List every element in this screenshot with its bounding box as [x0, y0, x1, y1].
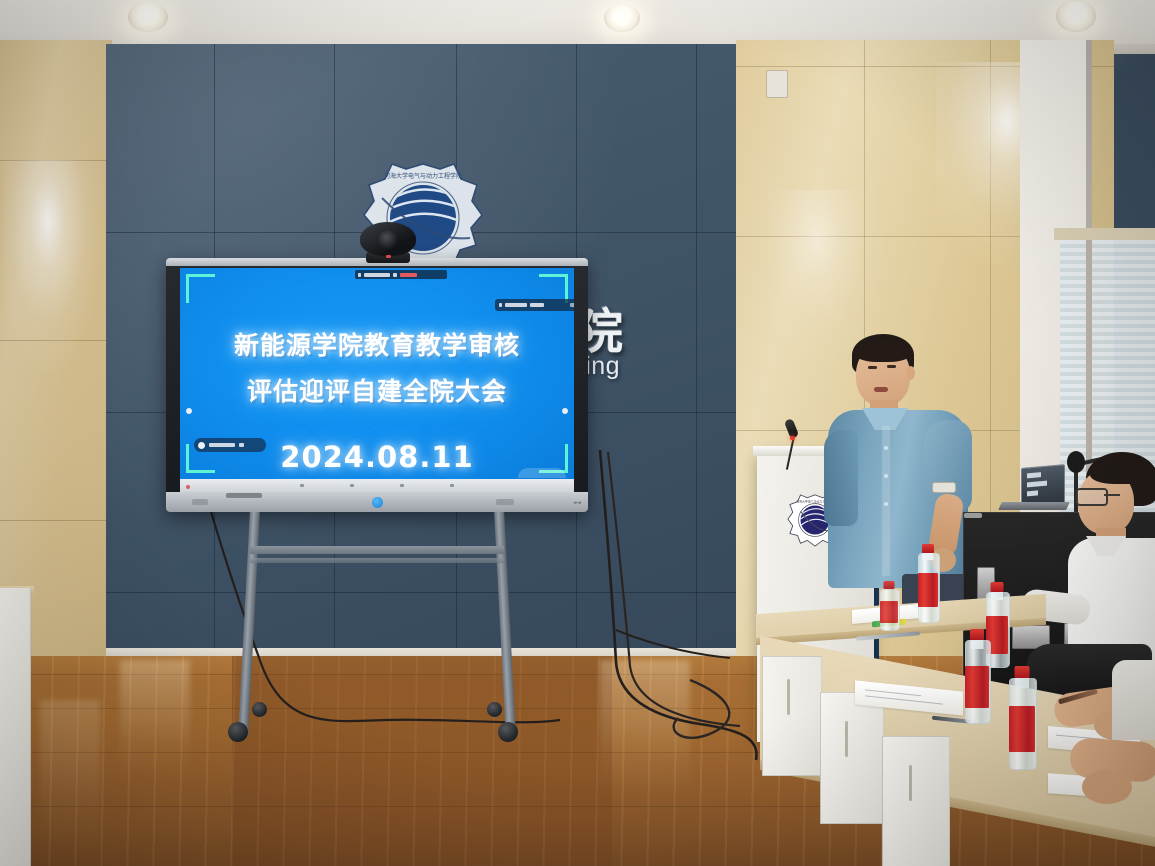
- slide-corner-accent: [186, 274, 215, 303]
- slide-title-line-1: 新能源学院教育教学审核: [180, 326, 574, 362]
- display-stand-crossbar: [250, 546, 504, 554]
- display-chin: ▰▰: [166, 492, 588, 512]
- slide-wave-accent: [518, 468, 566, 478]
- interactive-display[interactable]: 新能源学院教育教学审核 评估迎评自建全院大会 2024.08.11 ▰▰: [166, 258, 588, 512]
- chin-vent: [192, 499, 208, 505]
- water-bottle-icon[interactable]: [965, 640, 989, 722]
- table-modesty-panel: [882, 736, 950, 866]
- ceiling-downlight-icon: [1056, 0, 1096, 32]
- caster-wheel-icon: [252, 702, 267, 717]
- display-screen[interactable]: 新能源学院教育教学审核 评估迎评自建全院大会 2024.08.11: [180, 268, 574, 492]
- eyeglasses-icon: [1076, 488, 1108, 506]
- attendee-sleeve: [1112, 660, 1155, 740]
- ceiling-downlight-icon: [128, 2, 168, 32]
- wristwatch: [932, 482, 956, 493]
- selection-handle[interactable]: [562, 408, 568, 414]
- case-corner: [964, 513, 982, 518]
- wall-socket[interactable]: [766, 70, 788, 98]
- water-bottle-icon[interactable]: [918, 553, 938, 621]
- caster-wheel-icon: [228, 722, 248, 742]
- water-bottle-icon[interactable]: [1009, 678, 1035, 768]
- table-modesty-panel: [820, 692, 884, 824]
- display-brand-logo-icon: [372, 497, 383, 508]
- svg-text:河海大学电气与动力工程学院: 河海大学电气与动力工程学院: [384, 172, 462, 180]
- slide-record-dot: [186, 485, 190, 489]
- window-mullion: [1054, 228, 1155, 240]
- conference-room-photo: 河海大学电气与动力工程学院 College of Electrical and …: [0, 0, 1155, 866]
- table-modesty-panel: [762, 656, 822, 776]
- slide-date: 2024.08.11: [180, 440, 574, 474]
- slide-floating-widget[interactable]: [495, 299, 574, 311]
- caster-wheel-icon: [487, 702, 502, 717]
- water-bottle-icon[interactable]: [880, 589, 898, 629]
- slide-title-line-2: 评估迎评自建全院大会: [180, 372, 574, 408]
- slide-top-toolbar[interactable]: [355, 270, 447, 279]
- slide-bottom-bar[interactable]: [180, 479, 574, 492]
- display-stand-crossbar: [250, 558, 504, 563]
- moving-head-light-icon: [350, 222, 428, 264]
- chin-vent: [496, 499, 514, 505]
- chin-notch: [226, 493, 262, 498]
- selection-handle[interactable]: [186, 408, 192, 414]
- display-brand-text: ▰▰: [574, 500, 583, 506]
- laptop-base: [998, 502, 1070, 510]
- microphone-indicator: [790, 436, 795, 440]
- ceiling-downlight-icon: [604, 4, 640, 32]
- caster-wheel-icon: [498, 722, 518, 742]
